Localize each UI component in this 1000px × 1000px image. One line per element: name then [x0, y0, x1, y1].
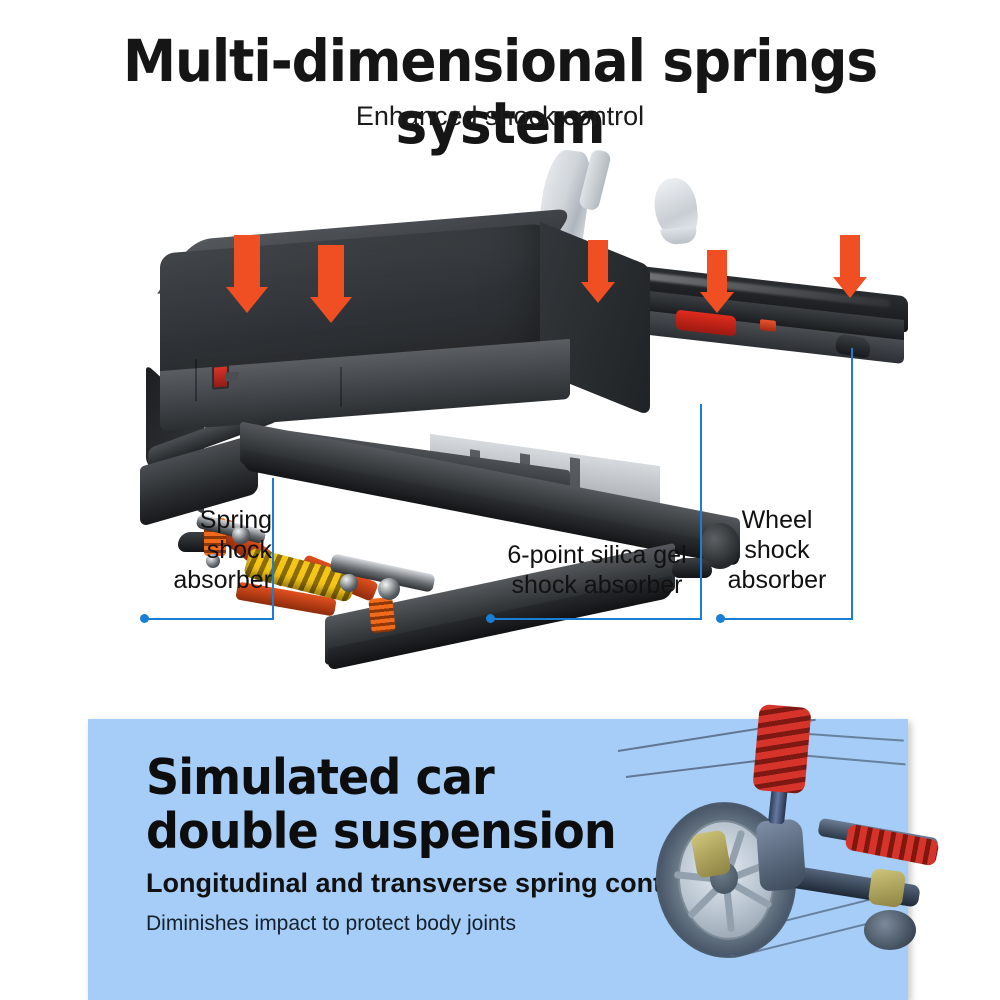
callout-line: Spring [120, 505, 272, 535]
page-subtitle: Enhanced shock control [0, 100, 1000, 132]
suspension-panel: Simulated car double suspension Longitud… [88, 719, 908, 1000]
callout-line: Wheel [702, 505, 852, 535]
hood-seam [195, 359, 197, 401]
leader-dot-icon [486, 614, 495, 623]
infographic-page: Multi-dimensional springs system Enhance… [0, 0, 1000, 1000]
silica-gel-pad-small [760, 319, 776, 332]
callout-line: absorber [702, 565, 852, 595]
callout-line: 6-point silica gel [492, 540, 702, 570]
hood-seam [340, 367, 342, 407]
linkage-joint [868, 868, 907, 908]
callout-line: shock [702, 535, 852, 565]
treadmill-assembly [0, 150, 1000, 690]
leader-dot-icon [140, 614, 149, 623]
orange-coil-spring [368, 597, 395, 633]
callout-line: shock [120, 535, 272, 565]
switch-tab [225, 371, 239, 381]
pivot-bolt [340, 574, 358, 592]
leader-line-spring-horizontal [146, 618, 274, 620]
callout-line: shock absorber [492, 570, 702, 600]
longitudinal-coil-spring [752, 704, 811, 794]
leader-dot-icon [716, 614, 725, 623]
callout-line: absorber [120, 565, 272, 595]
suspension-bushing [864, 910, 916, 950]
page-title: Multi-dimensional springs system [40, 30, 960, 154]
callout-wheel-shock-absorber: Wheel shock absorber [702, 505, 852, 595]
body-outline [794, 732, 904, 742]
header: Multi-dimensional springs system Enhance… [0, 0, 1000, 150]
brake-caliper [690, 829, 731, 878]
body-outline [798, 754, 906, 765]
steering-knuckle [756, 818, 807, 891]
leader-line-spring-vertical [272, 478, 274, 620]
callout-silica-gel-shock-absorber: 6-point silica gel shock absorber [492, 540, 702, 600]
panel-title-line-1: Simulated car [146, 751, 635, 805]
treadmill-photo [0, 150, 1000, 690]
callout-spring-shock-absorber: Spring shock absorber [120, 505, 272, 595]
pivot-bolt [378, 578, 400, 600]
leader-line-wheel-horizontal [722, 618, 853, 620]
panel-title-line-2: double suspension [146, 805, 635, 859]
car-suspension-illustration [588, 724, 908, 984]
leader-line-silica-horizontal [492, 618, 702, 620]
panel-title: Simulated car double suspension [146, 751, 635, 859]
